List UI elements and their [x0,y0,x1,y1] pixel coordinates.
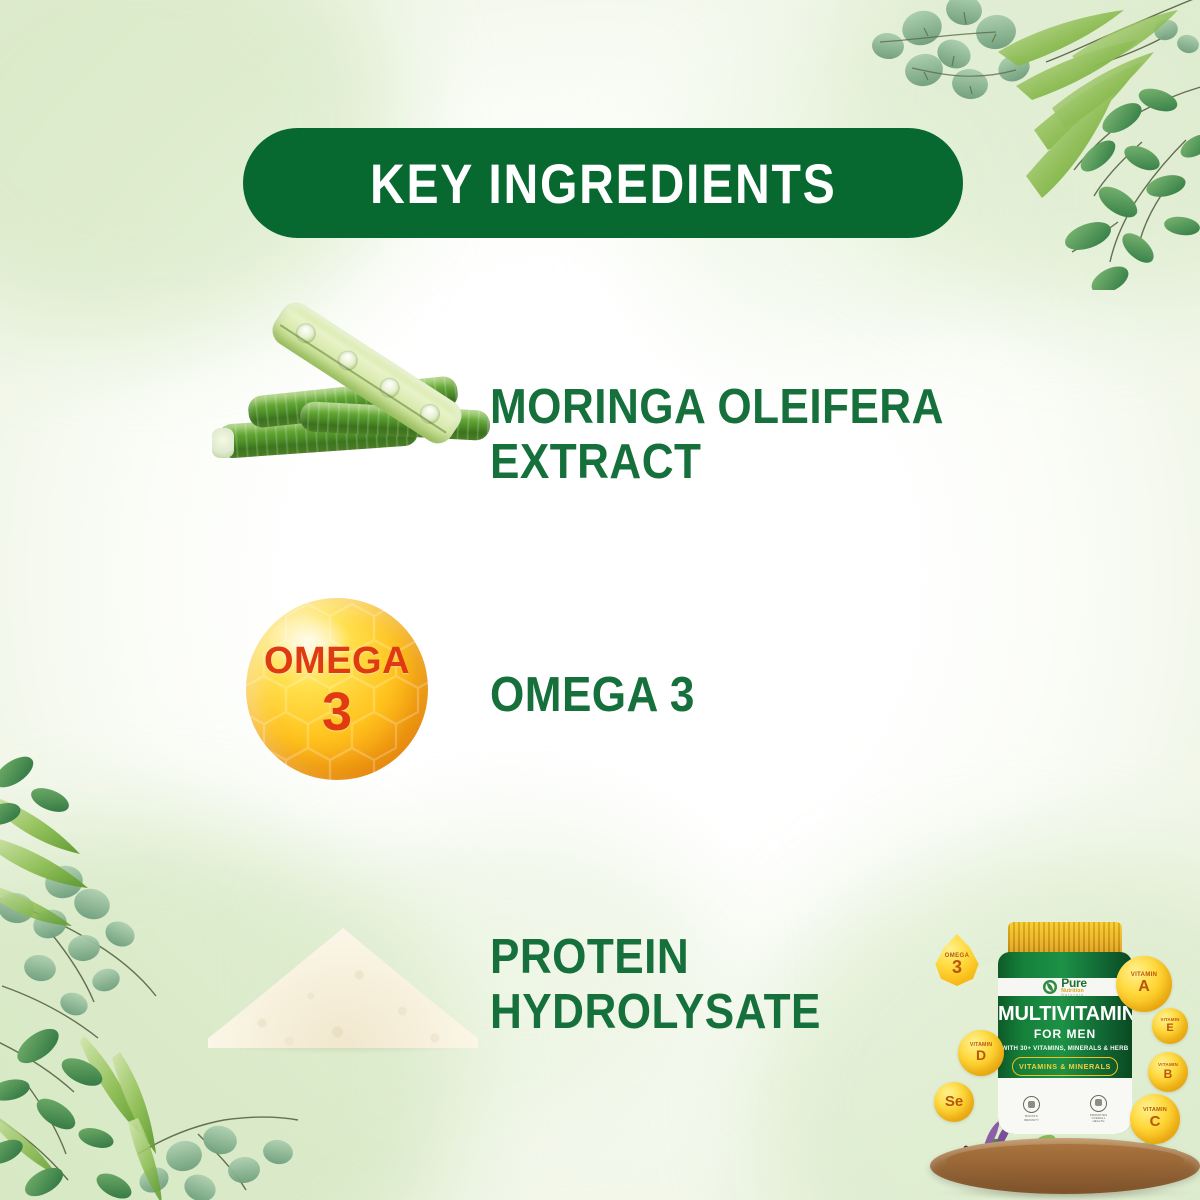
badge-value: 3 [952,958,962,976]
ingredient-label-moringa: MORINGA OLEIFERA EXTRACT [490,380,944,490]
nutrient-badge-vitamin-d: VITAMIN D [958,1030,1004,1076]
nutrient-badge-omega3: OMEGA 3 [934,934,980,986]
key-ingredients-header-banner: KEY INGREDIENTS [243,128,963,238]
seal-label: PROMOTES OVERALL HEALTH [1086,1114,1112,1124]
badge-value: B [1164,1068,1173,1081]
omega-3-gold-sphere-icon: OMEGA 3 [190,590,490,800]
vitamins-minerals-badge: VITAMINS & MINERALS [1012,1057,1118,1076]
product-name: MULTIVITAMIN [998,1003,1132,1026]
ingredient-label-omega3: OMEGA 3 [490,668,695,723]
ingredient-label-protein: PROTEIN HYDROLYSATE [490,930,821,1040]
nutrient-badge-vitamin-b: VITAMIN B [1148,1052,1188,1092]
omega-badge-word: OMEGA [264,640,410,683]
moringa-drumstick-pods-icon [190,330,490,540]
multivitamin-bottle: Pure Nutrition Naturals MULTIVITAMIN FOR… [990,922,1140,1134]
ingredient-row-protein: PROTEIN HYDROLYSATE [190,880,858,1090]
drumstick-cut-end [212,428,234,458]
product-audience: FOR MEN [998,1027,1132,1041]
badge-value: Se [945,1094,963,1110]
omega-badge-number: 3 [322,685,352,739]
bottle-body: Pure Nutrition Naturals MULTIVITAMIN FOR… [998,952,1132,1134]
nutrient-badge-selenium: Se [934,1082,974,1122]
health-icon [1090,1095,1107,1112]
nutrient-badge-vitamin-e: VITAMIN E [1152,1008,1188,1044]
bottle-seal-row: BOOSTS IMMUNITY PROMOTES OVERALL HEALTH [998,1078,1132,1134]
badge-value: D [976,1048,986,1063]
bottle-label-panel: MULTIVITAMIN FOR MEN WITH 30+ VITAMINS, … [998,996,1132,1080]
protein-powder-heap-icon [190,880,490,1090]
ingredient-row-moringa: MORINGA OLEIFERA EXTRACT [190,330,994,540]
seal-immunity: BOOSTS IMMUNITY [1019,1096,1045,1122]
seal-overall-health: PROMOTES OVERALL HEALTH [1086,1095,1112,1124]
page-title: KEY INGREDIENTS [370,151,836,216]
product-claim: WITH 30+ VITAMINS, MINERALS & HERB [998,1045,1132,1052]
product-bottle-composition: Pure Nutrition Naturals MULTIVITAMIN FOR… [930,900,1200,1200]
powder-texture [208,906,478,1056]
foliage-top-left-decoration [0,0,100,80]
seal-label: BOOSTS IMMUNITY [1019,1115,1045,1122]
badge-value: C [1150,1114,1161,1130]
nutrient-badge-vitamin-c: VITAMIN C [1130,1094,1180,1144]
immunity-icon [1023,1096,1040,1113]
wooden-tray [930,1138,1200,1194]
badge-value: E [1166,1023,1173,1035]
infographic-canvas: KEY INGREDIENTS MORINGA OLEIFERA EXTRACT [0,0,1200,1200]
bottle-cap [1008,922,1122,956]
tray-inner-surface [946,1144,1184,1178]
nutrient-badge-vitamin-a: VITAMIN A [1116,956,1172,1012]
pure-nutrition-leaf-logo-icon [1043,980,1057,994]
ingredient-row-omega3: OMEGA 3 OMEGA 3 [190,590,718,800]
brand-band: Pure Nutrition Naturals [998,978,1132,996]
badge-value: A [1138,979,1150,996]
brand-name: Pure [1061,977,1086,989]
